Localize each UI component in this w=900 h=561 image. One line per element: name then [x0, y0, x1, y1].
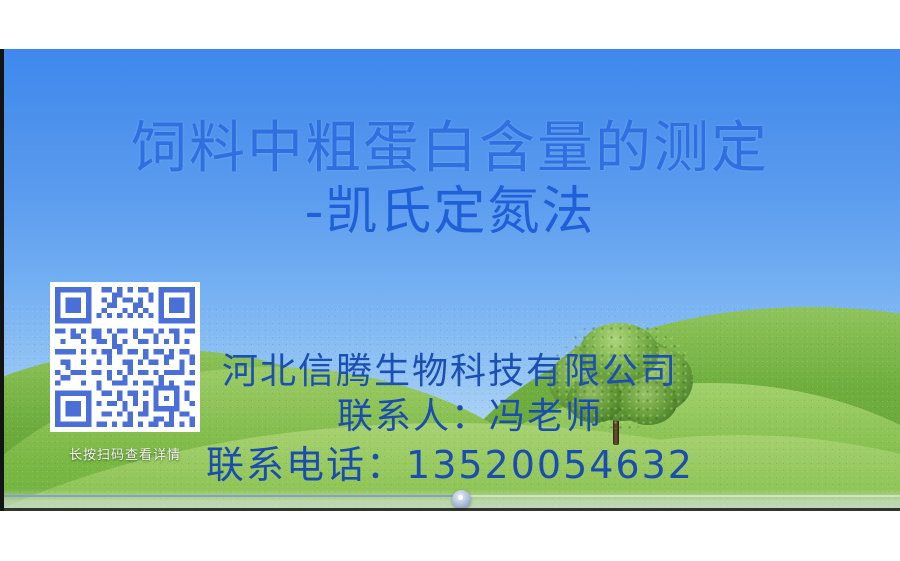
video-player-surface[interactable]: 饲料中粗蛋白含量的测定 -凯氏定氮法 河北信腾生物科技有限公司 联系人：冯老师 … — [0, 49, 900, 511]
scrubber-handle-dot — [458, 495, 463, 500]
tree-leaf-texture — [549, 321, 693, 429]
video-controls-bar[interactable] — [4, 489, 900, 511]
progress-fill — [4, 495, 461, 497]
tree-icon — [549, 321, 693, 447]
qr-caption: 长按扫码查看详情 — [50, 444, 200, 463]
video-page: 饲料中粗蛋白含量的测定 -凯氏定氮法 河北信腾生物科技有限公司 联系人：冯老师 … — [0, 0, 900, 561]
scrubber-handle-icon[interactable] — [452, 490, 471, 509]
qr-overlay[interactable]: 长按扫码查看详情 — [50, 282, 200, 463]
qr-code-icon[interactable] — [50, 282, 200, 432]
